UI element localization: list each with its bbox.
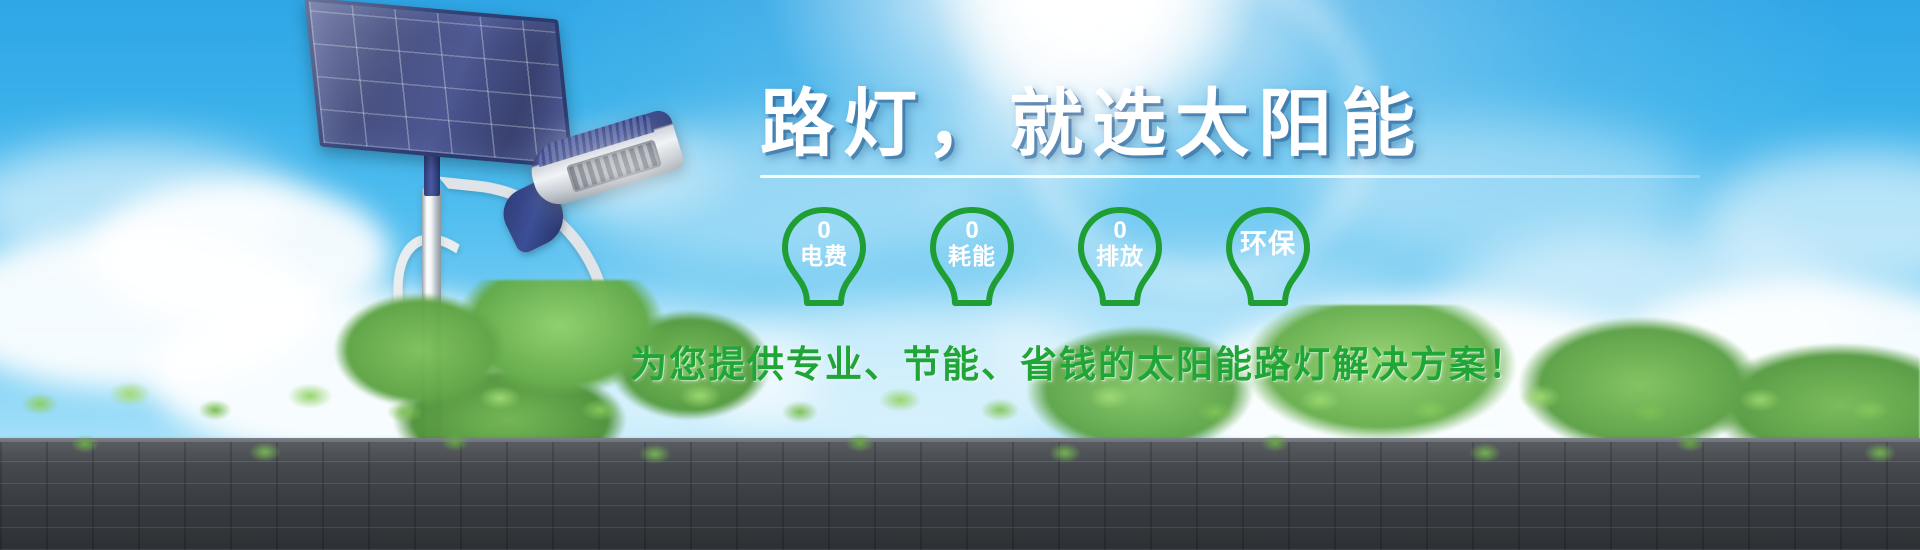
solar-street-light-banner: 路灯，就选太阳能 0 电费 0 耗能 xyxy=(0,0,1920,550)
benefit-badge-huanbao: 环保 xyxy=(1220,204,1316,312)
benefit-badge-paifang: 0 排放 xyxy=(1072,204,1168,312)
ground-scene xyxy=(0,415,1920,550)
badge-label: 电费 xyxy=(800,244,848,268)
benefit-badge-row: 0 电费 0 耗能 0 排放 xyxy=(760,204,1880,312)
banner-headline: 路灯，就选太阳能 xyxy=(760,86,1880,161)
badge-zero: 0 xyxy=(817,218,830,243)
banner-tagline: 为您提供专业、节能、省钱的太阳能路灯解决方案！ xyxy=(630,334,1880,388)
banner-copy: 路灯，就选太阳能 0 电费 0 耗能 xyxy=(760,86,1880,416)
badge-zero: 0 xyxy=(1113,218,1126,243)
ivy-foliage-lower xyxy=(0,428,1920,498)
badge-label: 环保 xyxy=(1240,230,1296,259)
benefit-badge-haoneng: 0 耗能 xyxy=(924,204,1020,312)
headline-divider xyxy=(760,175,1700,178)
solar-panel-icon xyxy=(304,0,573,169)
benefit-badge-dianfei: 0 电费 xyxy=(776,204,872,312)
badge-label: 排放 xyxy=(1096,244,1144,268)
badge-zero: 0 xyxy=(965,218,978,243)
badge-label: 耗能 xyxy=(948,244,996,268)
